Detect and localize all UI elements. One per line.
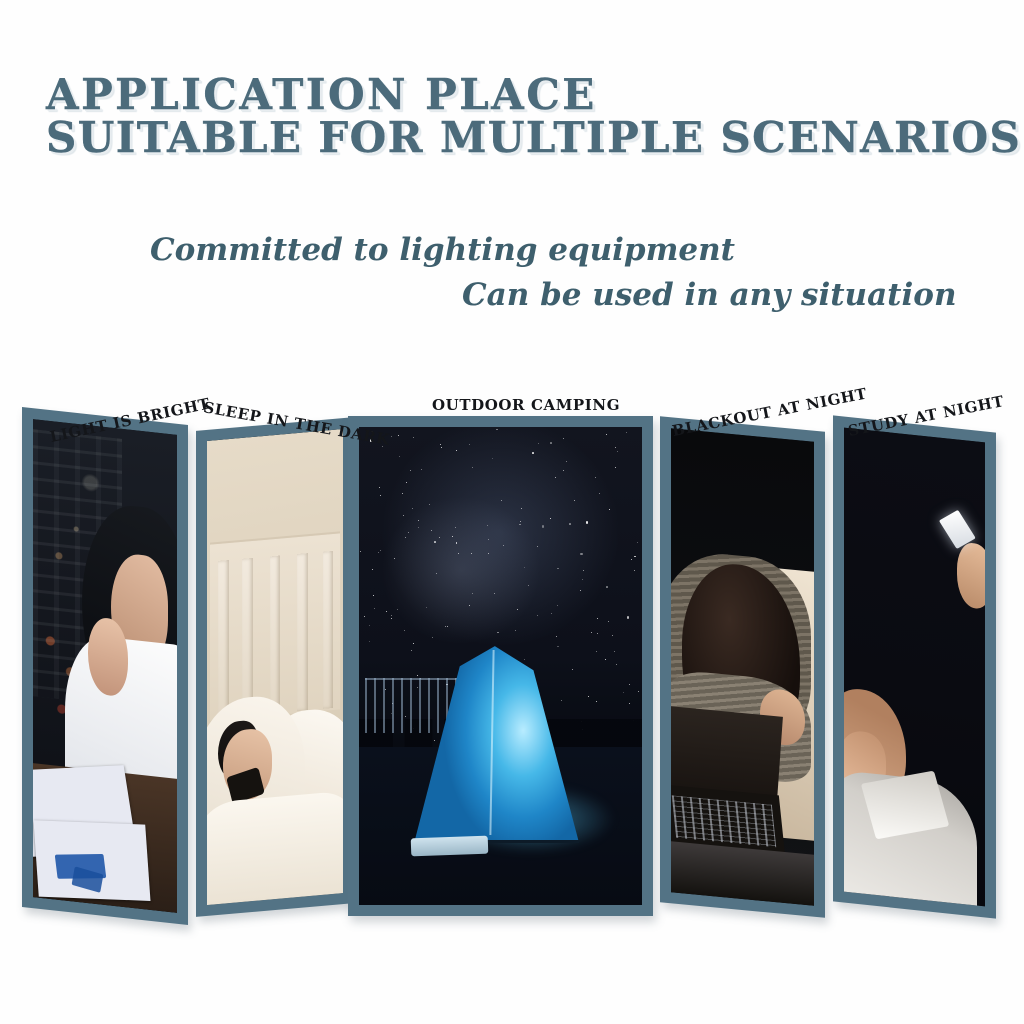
star: [494, 593, 495, 594]
star: [563, 470, 564, 471]
star: [515, 630, 516, 631]
star: [456, 542, 458, 544]
star: [402, 493, 403, 494]
scene-dark-room: [844, 428, 985, 907]
star: [501, 500, 502, 501]
star: [616, 664, 617, 665]
heading-line-2: SUITABLE FOR MULTIPLE SCENARIOS: [46, 117, 1006, 160]
poster-canvas: APPLICATION PLACE SUITABLE FOR MULTIPLE …: [0, 0, 1024, 1024]
scene-night-camping: [359, 427, 642, 905]
star: [471, 553, 472, 554]
star: [405, 537, 406, 538]
star: [532, 452, 534, 454]
star: [580, 590, 581, 591]
star: [406, 482, 407, 483]
star: [631, 559, 632, 560]
headboard-slat: [242, 558, 253, 717]
star: [574, 500, 575, 501]
star: [638, 691, 639, 692]
star: [469, 605, 470, 606]
star: [503, 545, 504, 546]
star: [623, 692, 624, 693]
star: [566, 461, 567, 462]
scene-office-night: [33, 419, 177, 913]
star: [606, 434, 607, 435]
star: [588, 696, 589, 697]
star: [408, 532, 409, 533]
headboard-slat: [218, 560, 229, 719]
star: [629, 703, 630, 704]
star: [410, 470, 412, 472]
star: [391, 615, 392, 616]
star: [379, 487, 380, 488]
star: [537, 615, 538, 616]
star: [369, 625, 370, 626]
star: [488, 539, 489, 540]
star: [591, 632, 592, 633]
duvet: [207, 790, 343, 905]
star: [597, 633, 598, 634]
star: [418, 520, 419, 521]
star: [606, 586, 608, 588]
star: [557, 568, 559, 570]
panel-image-outdoor-camping: [359, 427, 642, 905]
star: [617, 451, 618, 452]
star: [497, 632, 499, 634]
star: [458, 553, 459, 554]
panel-image-light-is-bright: [33, 419, 177, 913]
panel-image-blackout-at-night: [671, 428, 814, 906]
star: [418, 527, 419, 528]
tent-ground-pad: [410, 836, 488, 857]
heading-line-1: APPLICATION PLACE: [46, 74, 1006, 117]
star: [550, 442, 552, 444]
scenario-panel-study-at-night: [833, 415, 996, 918]
star: [373, 595, 374, 596]
desk-surface: [671, 841, 814, 906]
panel-image-study-at-night: [844, 428, 985, 907]
subheading-line-1: Committed to lighting equipment: [150, 228, 970, 273]
scenario-panel-sleep-in-the-dark: [196, 417, 354, 917]
star: [555, 477, 556, 478]
star: [360, 551, 361, 552]
subheading-line-2: Can be used in any situation: [462, 273, 970, 318]
star: [609, 509, 610, 510]
star: [599, 493, 600, 494]
star: [472, 593, 473, 594]
star: [629, 684, 630, 685]
person-hand: [957, 542, 985, 611]
star: [403, 515, 404, 516]
scenario-panel-blackout-at-night: [660, 416, 825, 918]
star: [627, 616, 629, 618]
star: [487, 525, 488, 526]
star: [605, 659, 606, 660]
star: [634, 570, 635, 571]
star: [537, 546, 538, 547]
star: [519, 524, 521, 526]
star: [569, 523, 571, 525]
star: [596, 651, 597, 652]
star: [398, 435, 399, 436]
star: [374, 608, 375, 609]
star: [399, 456, 400, 457]
star: [455, 527, 456, 528]
headboard-slat: [270, 555, 281, 714]
star: [492, 458, 493, 459]
panel-label-outdoor-camping: OUTDOOR CAMPING: [432, 396, 620, 414]
star: [517, 609, 518, 610]
headboard-slat: [323, 551, 334, 710]
star: [614, 651, 615, 652]
headboard-slat: [297, 553, 308, 712]
glowing-tent: [407, 642, 582, 843]
star: [378, 552, 379, 553]
star: [524, 567, 525, 568]
star: [380, 550, 381, 551]
star: [612, 635, 613, 636]
star: [542, 525, 544, 527]
star: [583, 570, 584, 571]
star: [412, 508, 413, 509]
star: [596, 701, 597, 702]
star: [472, 467, 473, 468]
star: [538, 443, 539, 444]
star: [582, 579, 583, 580]
panel-image-sleep-in-the-dark: [207, 429, 343, 905]
star: [372, 569, 373, 570]
star: [634, 556, 636, 558]
star: [394, 558, 395, 559]
star: [469, 444, 470, 445]
star: [439, 537, 440, 538]
star: [380, 495, 381, 496]
star: [426, 607, 427, 608]
star: [496, 429, 498, 431]
star: [431, 530, 432, 531]
star: [556, 636, 557, 637]
poster-subheading: Committed to lighting equipment Can be u…: [150, 228, 970, 318]
star: [364, 616, 365, 617]
star: [615, 467, 616, 468]
star: [369, 641, 371, 643]
star: [521, 508, 522, 509]
star: [557, 605, 558, 606]
star: [608, 621, 609, 622]
tent-body: [407, 642, 582, 843]
star: [563, 438, 564, 439]
scenario-panel-light-is-bright: [22, 407, 188, 925]
star: [520, 521, 521, 522]
star: [595, 477, 596, 478]
star: [452, 536, 453, 537]
star: [404, 630, 405, 631]
star: [637, 542, 638, 543]
star: [432, 637, 433, 638]
scene-bedroom: [207, 429, 343, 905]
star: [528, 585, 529, 586]
star: [456, 450, 457, 451]
star: [386, 611, 387, 612]
star: [597, 618, 598, 619]
scenario-panel-outdoor-camping: [348, 416, 653, 916]
scene-dark-office: [671, 428, 814, 906]
star: [440, 444, 441, 445]
star: [550, 518, 551, 519]
star: [391, 436, 392, 437]
star: [626, 432, 627, 433]
scenario-panel-row: LIGHT IS BRIGHT SLEEP IN THE DARK OUTDOO…: [0, 380, 1024, 960]
star: [615, 447, 616, 448]
star: [413, 437, 414, 438]
poster-heading: APPLICATION PLACE SUITABLE FOR MULTIPLE …: [46, 74, 1006, 160]
star: [551, 613, 552, 614]
star: [429, 504, 430, 505]
star: [488, 553, 489, 554]
star: [447, 626, 448, 627]
star: [586, 521, 588, 523]
star: [397, 609, 398, 610]
star: [441, 447, 442, 448]
star: [580, 553, 582, 555]
star: [434, 541, 436, 543]
star: [421, 469, 422, 470]
star: [391, 618, 392, 619]
star: [436, 573, 438, 575]
